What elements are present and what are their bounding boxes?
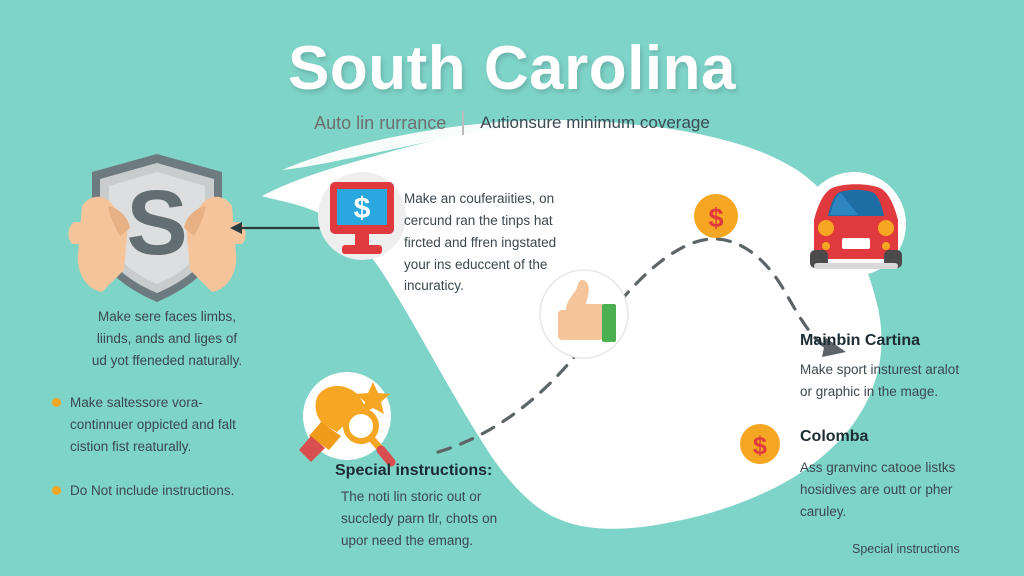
- bullet-text: Do Not include instructions.: [70, 480, 234, 502]
- special-instructions-heading: Special instructions:: [335, 462, 550, 480]
- left-paragraph-line-3: ud yot ffeneded naturally.: [42, 350, 292, 372]
- bullet-text: Make saltessore vora- continnuer oppicte…: [70, 392, 236, 458]
- left-bullet-list: Make saltessore vora- continnuer oppicte…: [52, 392, 304, 523]
- center-paragraph-line-3: fircted and ffren ingstated: [404, 232, 604, 254]
- thumb-sleeve: [602, 304, 616, 342]
- bullet-2-line-1: Do Not include instructions.: [70, 483, 234, 498]
- left-paragraph-line-2: liinds, ands and liges of: [42, 328, 292, 350]
- list-item: Do Not include instructions.: [52, 480, 304, 502]
- bullet-dot-icon: [52, 398, 61, 407]
- center-paragraph-line-4: your ins educcent of the: [404, 254, 604, 276]
- right-block-colomba: Colomba Ass granvinc catooe listks hosid…: [800, 428, 1015, 523]
- car-license-plate: [842, 238, 870, 249]
- center-paragraph-line-5: incuraticy.: [404, 275, 604, 297]
- center-paragraph-line-2: cercund ran the tinps hat: [404, 210, 604, 232]
- special-instructions-block: Special instructions: The noti lin stori…: [335, 462, 550, 552]
- dollar-coin-icon-top: $: [692, 192, 740, 240]
- monitor-dollar-symbol: $: [354, 192, 371, 225]
- bullet-1-line-1: Make saltessore vora-: [70, 395, 203, 410]
- paint-brush-magnifier-star-icon: [293, 366, 401, 470]
- coin-dollar-symbol-top: $: [708, 203, 723, 233]
- dollar-coin-icon-bottom: $: [738, 422, 782, 466]
- red-car-front-icon: [792, 166, 912, 292]
- bullet-1-line-2: continnuer oppicted and falt: [70, 417, 236, 432]
- monitor-dollar-icon: $: [316, 168, 408, 268]
- center-paragraph-line-1: Make an couferaiities, on: [404, 188, 604, 210]
- left-paragraph: Make sere faces limbs, liinds, ands and …: [42, 306, 292, 372]
- right-block-2-line-1: Ass granvinc catooe listks: [800, 457, 1015, 479]
- list-item: Make saltessore vora- continnuer oppicte…: [52, 392, 304, 458]
- right-block-2-line-2: hosidives are outt or pher: [800, 479, 1015, 501]
- special-instructions-line-2: succledy parn tlr, chots on: [335, 508, 550, 530]
- bullet-dot-icon: [52, 486, 61, 495]
- right-block-2-heading: Colomba: [800, 428, 1015, 446]
- footer-note: Special instructions: [852, 542, 960, 556]
- right-block-1-line-2: or graphic in the mage.: [800, 381, 1015, 403]
- shield-with-hands-icon: S: [62, 150, 252, 310]
- coin-dollar-symbol-bottom: $: [753, 432, 767, 460]
- special-instructions-line-3: upor need the emang.: [335, 530, 550, 552]
- shield-letter: S: [126, 172, 187, 274]
- car-headlight-right: [878, 220, 894, 236]
- right-block-2-line-3: caruley.: [800, 501, 1015, 523]
- infographic-poster: South Carolina Auto lin rurrance Autions…: [0, 0, 1024, 576]
- right-block-1-heading: Mainbin Cartina: [800, 332, 1015, 350]
- center-paragraph: Make an couferaiities, on cercund ran th…: [404, 188, 604, 297]
- left-paragraph-line-1: Make sere faces limbs,: [42, 306, 292, 328]
- thumb-cuff: [558, 310, 570, 340]
- car-headlight-left: [818, 220, 834, 236]
- right-block-1-line-1: Make sport insturest aralot: [800, 359, 1015, 381]
- special-instructions-line-1: The noti lin storic out or: [335, 486, 550, 508]
- right-block-mainbin-cartina: Mainbin Cartina Make sport insturest ara…: [800, 332, 1015, 403]
- bullet-1-line-3: cistion fist reaturally.: [70, 439, 191, 454]
